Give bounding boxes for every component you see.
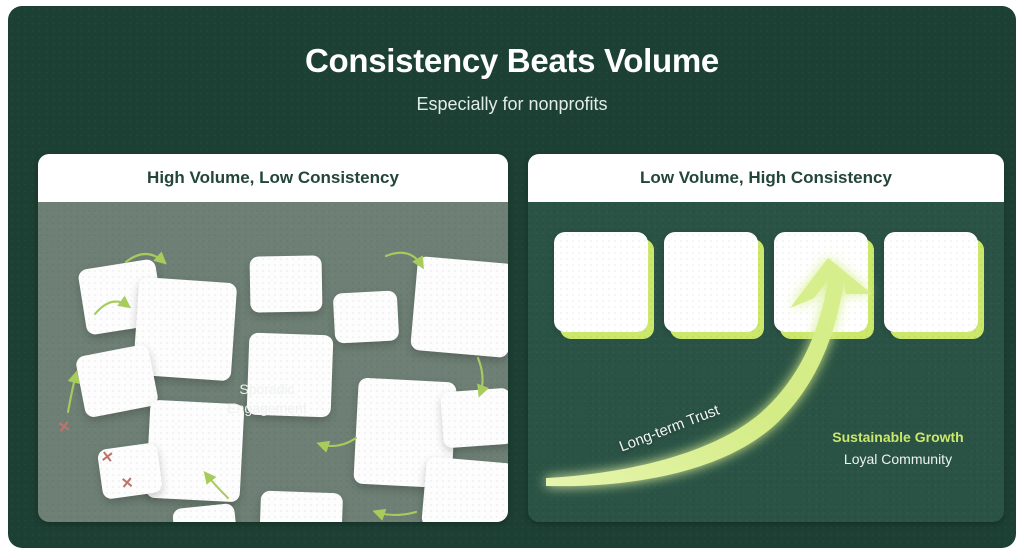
x-mark-icon: ✕ [100,449,115,466]
x-mark-icon: ✕ [57,419,72,436]
scattered-card [259,491,343,522]
scattered-card [333,290,400,343]
scattered-card [421,456,508,522]
sporadic-line-1: Sporadic [204,380,330,399]
panel-left-header: High Volume, Low Consistency [38,154,508,202]
arrow-curve [320,438,356,446]
panel-right-header-label: Low Volume, High Consistency [640,168,892,188]
slide-canvas: Consistency Beats Volume Especially for … [8,6,1016,548]
scattered-card [172,503,238,522]
x-mark-icon: ✕ [120,475,134,491]
panel-right-header: Low Volume, High Consistency [528,154,1004,202]
consistent-card [884,232,978,332]
scattered-card [250,255,323,312]
sporadic-engagement-label: Sporadic Engagement [204,380,330,418]
panel-high-volume-low-consistency: High Volume, Low Consistency [38,154,508,522]
sustainable-growth-label: Sustainable Growth [798,429,998,445]
panel-right-body [528,202,1004,522]
scattered-card [440,388,508,449]
arrow-curve [376,512,416,515]
consistent-card [774,232,868,332]
panel-left-header-label: High Volume, Low Consistency [147,168,399,188]
arrow-curve [68,374,76,412]
page-subtitle: Especially for nonprofits [8,94,1016,115]
loyal-community-label: Loyal Community [798,451,998,467]
scattered-card [75,344,159,419]
sporadic-line-2: Engagement [204,399,330,418]
panel-low-volume-high-consistency: Low Volume, High Consistency [528,154,1004,522]
consistent-card [554,232,648,332]
panel-left-body: ✕ ✕ ✕ [38,202,508,522]
consistent-card [664,232,758,332]
scattered-card [410,256,508,358]
page-title: Consistency Beats Volume [8,42,1016,80]
